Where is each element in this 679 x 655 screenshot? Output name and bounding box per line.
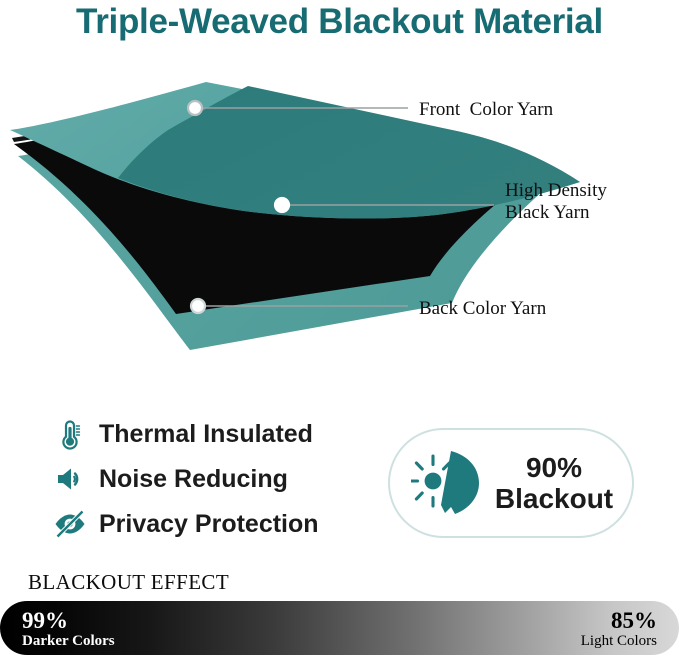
effect-light-percent: 85% [581,609,657,633]
feature-item-thermal-insulated: Thermal Insulated [50,412,380,456]
page-title: Triple-Weaved Blackout Material [0,2,679,42]
effect-darker-colors: 99% Darker Colors [22,609,115,650]
feature-item-noise-reducing: Noise Reducing [50,457,380,501]
blackout-badge: 90% Blackout [388,428,634,538]
blackout-badge-text: 90% Blackout [495,452,613,515]
effect-light-colors: 85% Light Colors [581,609,657,650]
callout-label-high-density: High Density Black Yarn [505,180,607,225]
feature-label: Noise Reducing [99,465,288,494]
effect-light-caption: Light Colors [581,633,657,650]
callout-dot-back [191,299,205,313]
callout-dot-front [188,101,202,115]
callout-label-back: Back Color Yarn [419,298,546,320]
blackout-percent: 90% [495,452,613,483]
eye-slash-icon [50,504,90,544]
sun-blocked-icon [409,445,487,521]
blackout-effect-heading: BLACKOUT EFFECT [28,570,229,595]
effect-darker-percent: 99% [22,609,115,633]
feature-item-privacy-protection: Privacy Protection [50,502,380,546]
speaker-sound-icon [50,459,90,499]
effect-darker-caption: Darker Colors [22,633,115,650]
thermometer-icon [50,414,90,454]
feature-list: Thermal Insulated Noise Reducing Privacy… [50,412,380,547]
callout-dot-high-density [275,198,289,212]
feature-label: Privacy Protection [99,510,319,539]
feature-label: Thermal Insulated [99,420,313,449]
blackout-effect-gradient-bar: 99% Darker Colors 85% Light Colors [0,601,679,655]
callout-label-front: Front Color Yarn [419,99,553,121]
blackout-caption: Blackout [495,483,613,514]
